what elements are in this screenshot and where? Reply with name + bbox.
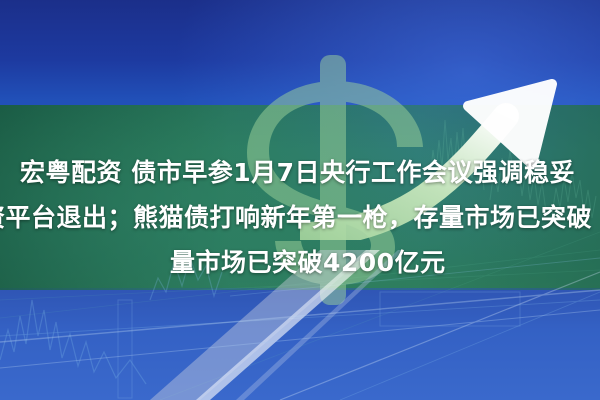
news-banner-image: 宏粤配资 债市早参1月7日央行工作会议强调稳妥 资平台退出；熊猫债打响新年第一枪… xyxy=(0,0,600,400)
headline-line-1: 宏粤配资 债市早参1月7日央行工作会议强调稳妥 xyxy=(20,150,575,195)
headline-line-3: 量市场已突破4200亿元 xyxy=(170,240,446,285)
headline-line-2: 资平台退出；熊猫债打响新年第一枪，存量市场已突破 xyxy=(0,195,592,240)
